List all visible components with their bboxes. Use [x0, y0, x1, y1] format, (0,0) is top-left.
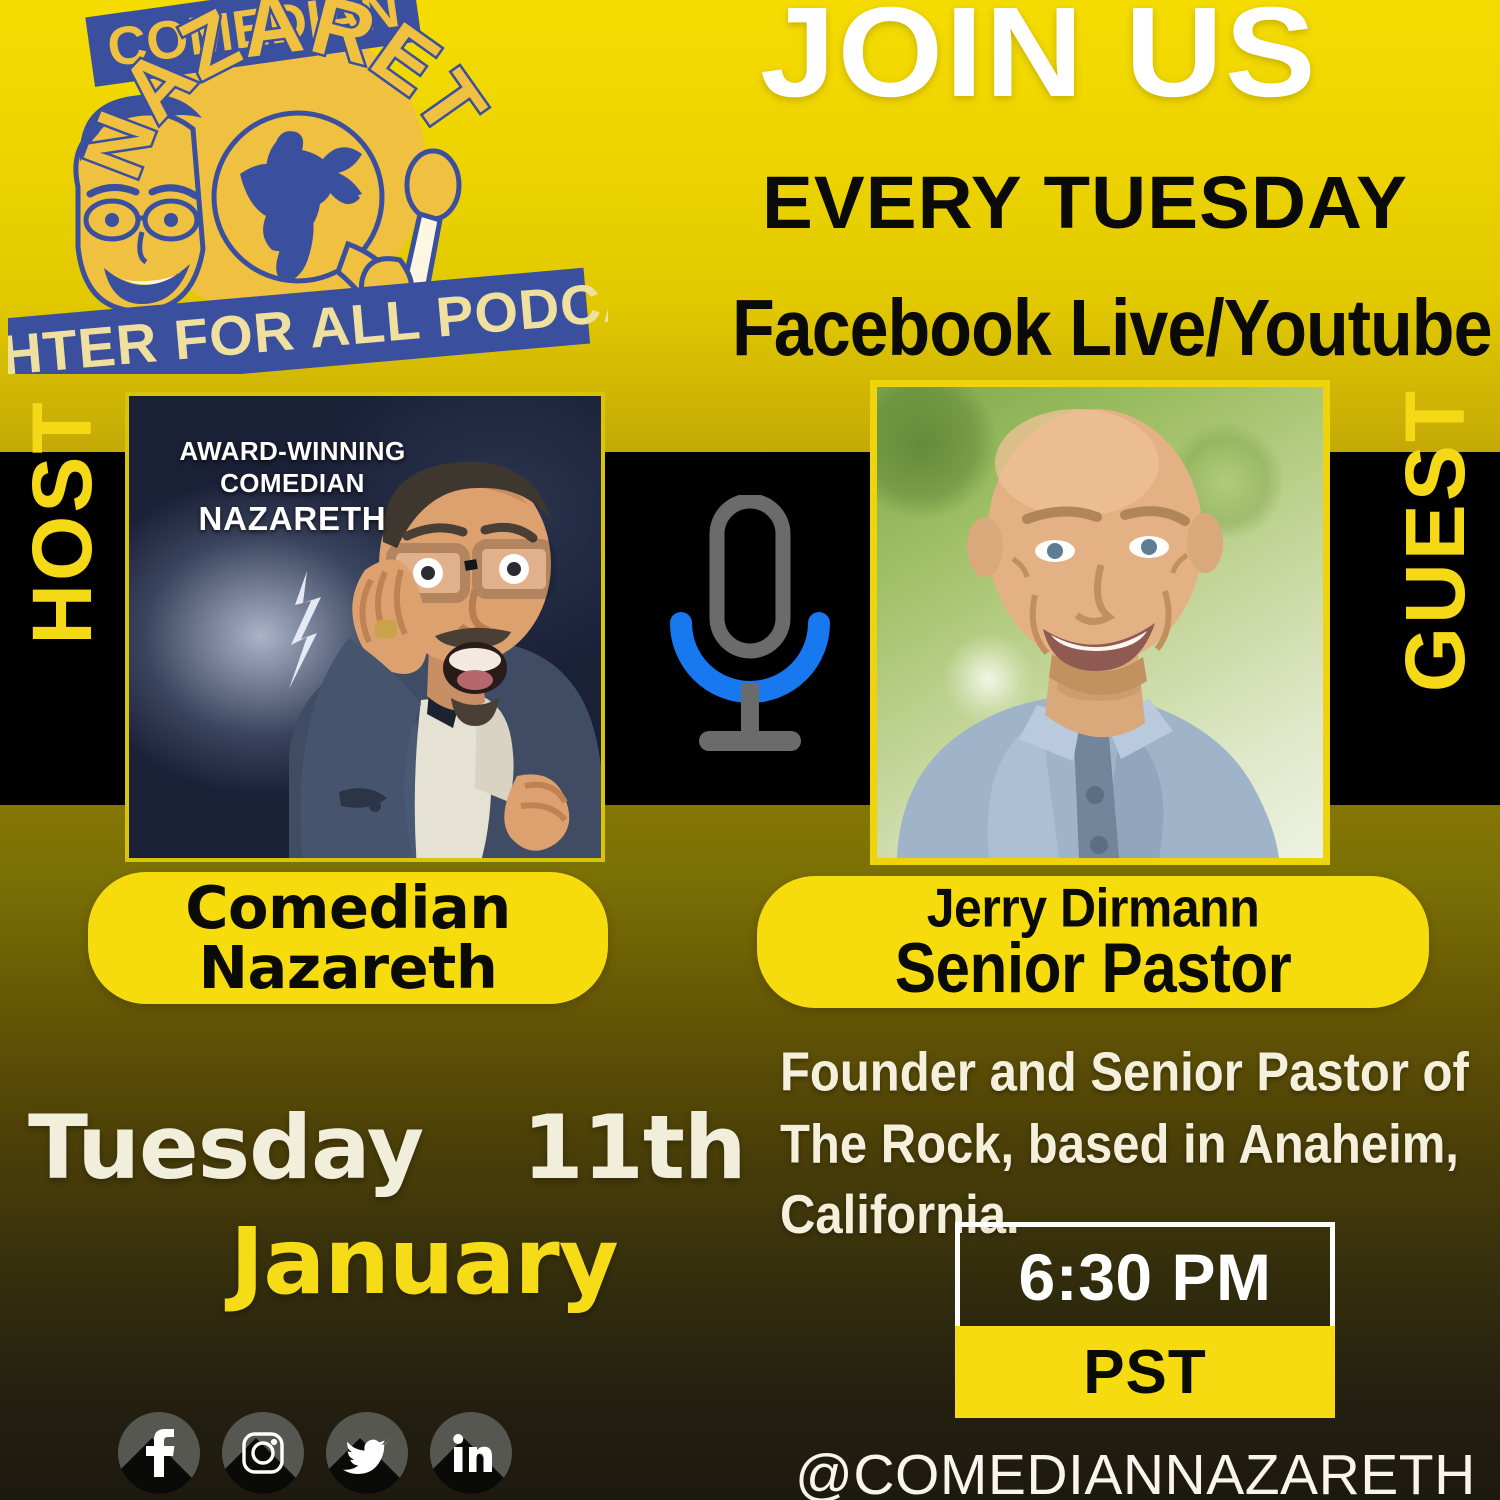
podcast-promo-poster: COMEDIAN NAZARETH LAUGHTER FOR ALL PODCA… [0, 0, 1500, 1500]
social-icons-row [118, 1412, 512, 1494]
host-caption-line3: NAZARETH [175, 499, 410, 539]
host-caption-line2: COMEDIAN [175, 468, 410, 500]
event-timezone: PST [1083, 1337, 1207, 1408]
event-time-value: 6:30 PM [1019, 1239, 1272, 1315]
event-month: January [230, 1208, 618, 1315]
guest-description: Founder and Senior Pastor of The Rock, b… [780, 1038, 1500, 1252]
host-name-line1: Comedian [185, 878, 511, 938]
guest-name: Jerry Dirmann [927, 881, 1260, 936]
facebook-icon[interactable] [118, 1412, 200, 1494]
guest-title: Senior Pastor [895, 933, 1292, 1005]
every-tuesday-text: EVERY TUESDAY [762, 160, 1408, 245]
microphone-icon [655, 495, 845, 785]
guest-portrait-figure [877, 387, 1323, 858]
host-side-label: HOST [18, 372, 106, 672]
host-name-line2: Nazareth [199, 938, 498, 998]
guest-name-pill: Jerry Dirmann Senior Pastor [757, 876, 1429, 1008]
event-timezone-row: PST [955, 1326, 1335, 1418]
linkedin-icon[interactable] [430, 1412, 512, 1494]
event-time-value-row: 6:30 PM [955, 1222, 1335, 1326]
host-photo-caption: AWARD-WINNING COMEDIAN NAZARETH [175, 436, 410, 540]
host-photo: AWARD-WINNING COMEDIAN NAZARETH [125, 392, 605, 862]
guest-side-label: GUEST [1385, 370, 1485, 710]
event-day: 11th [522, 1096, 745, 1199]
join-us-heading: JOIN US [760, 0, 1318, 122]
event-time-box: 6:30 PM PST [955, 1222, 1335, 1418]
instagram-icon[interactable] [222, 1412, 304, 1494]
guest-photo [870, 380, 1330, 865]
platforms-text: Facebook Live/Youtube [732, 282, 1492, 373]
social-handle: @COMEDIANNAZARETH [795, 1442, 1476, 1500]
twitter-icon[interactable] [326, 1412, 408, 1494]
host-caption-line1: AWARD-WINNING [175, 436, 410, 468]
podcast-logo: COMEDIAN NAZARETH LAUGHTER FOR ALL PODCA… [8, 0, 608, 372]
event-date-line: Tuesday 11th [28, 1096, 746, 1199]
event-weekday: Tuesday [28, 1096, 423, 1199]
host-name-pill: Comedian Nazareth [88, 872, 608, 1004]
